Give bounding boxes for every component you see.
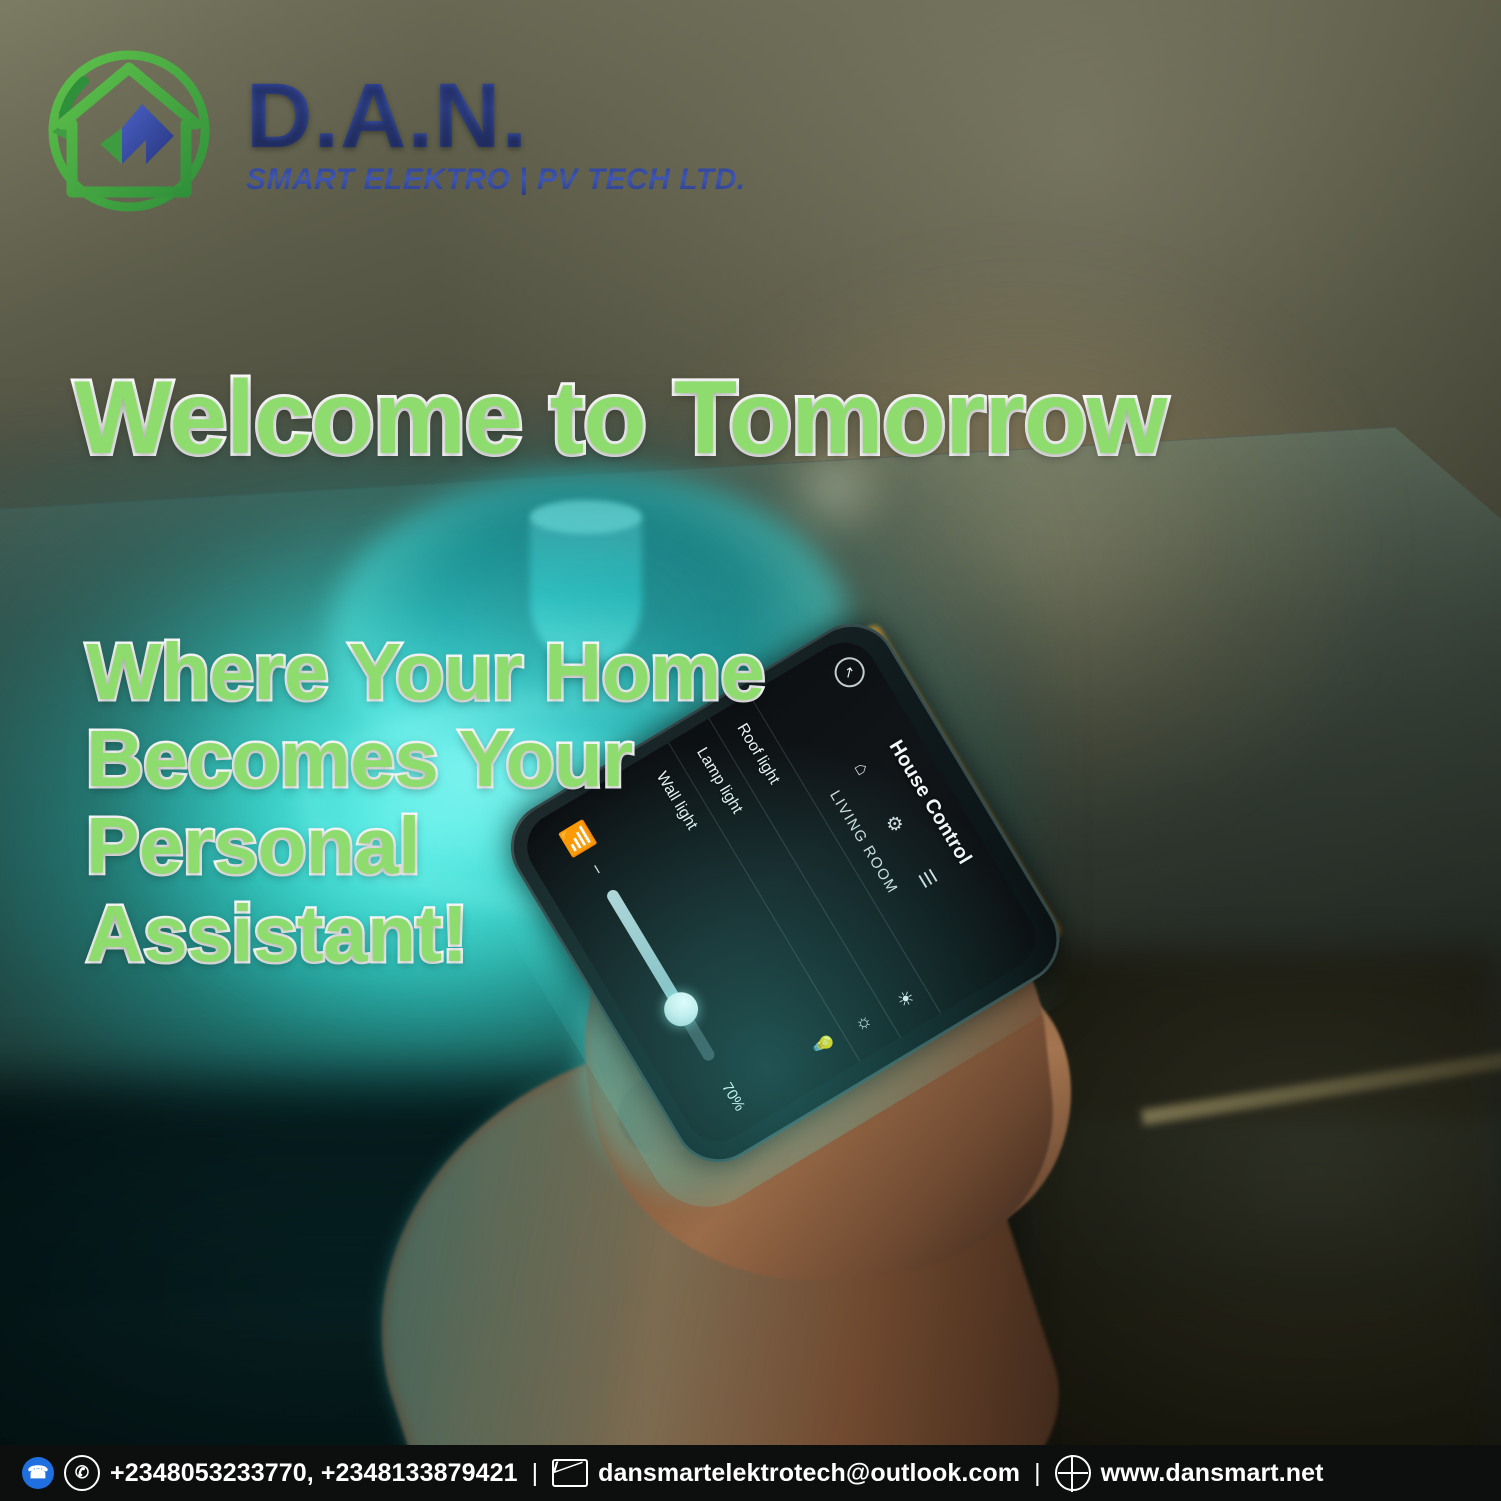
house-recycle-logo-icon: [34, 36, 224, 226]
poster-canvas: ↖ House Control ⌂ ⚙ ☰ LIVING ROOM Roof l…: [0, 0, 1501, 1501]
bulb-icon[interactable]: 💡: [806, 1028, 839, 1061]
gear-icon[interactable]: ⚙: [874, 803, 915, 844]
brand-name: D.A.N.: [246, 71, 528, 161]
dim-bulb-icon[interactable]: ☼: [850, 1010, 878, 1036]
phone-numbers[interactable]: +2348053233770, +2348133879421: [110, 1459, 518, 1488]
page-title: Welcome to Tomorrow: [74, 366, 1166, 470]
phone-ring-icon[interactable]: ☎: [22, 1457, 54, 1489]
subhead-line: Personal: [86, 802, 765, 889]
footer-separator: |: [1034, 1459, 1041, 1488]
globe-icon[interactable]: [1055, 1455, 1091, 1491]
brand-logo: D.A.N. SMART ELEKTRO | PV TECH LTD.: [34, 36, 746, 226]
subhead-line: Where Your Home: [86, 628, 765, 715]
whatsapp-icon[interactable]: ✆: [64, 1455, 100, 1491]
website-url[interactable]: www.dansmart.net: [1101, 1459, 1324, 1488]
home-icon[interactable]: ⌂: [841, 749, 882, 790]
email-address[interactable]: dansmartelektrotech@outlook.com: [598, 1459, 1020, 1488]
brightness-value: 70%: [711, 1067, 748, 1113]
brand-wordmark: D.A.N. SMART ELEKTRO | PV TECH LTD.: [246, 71, 746, 197]
bright-bulb-icon[interactable]: ☀: [891, 986, 919, 1012]
hero-subheading: Where Your Home Becomes Your Personal As…: [86, 628, 765, 977]
brand-tagline: SMART ELEKTRO | PV TECH LTD.: [246, 163, 746, 197]
contact-footer: ☎ ✆ +2348053233770, +2348133879421 | dan…: [0, 1445, 1501, 1501]
subhead-line: Becomes Your: [86, 715, 765, 802]
menu-icon[interactable]: ☰: [907, 858, 948, 899]
email-icon[interactable]: [552, 1459, 588, 1487]
footer-separator: |: [532, 1459, 539, 1488]
subhead-line: Assistant!: [86, 890, 765, 977]
